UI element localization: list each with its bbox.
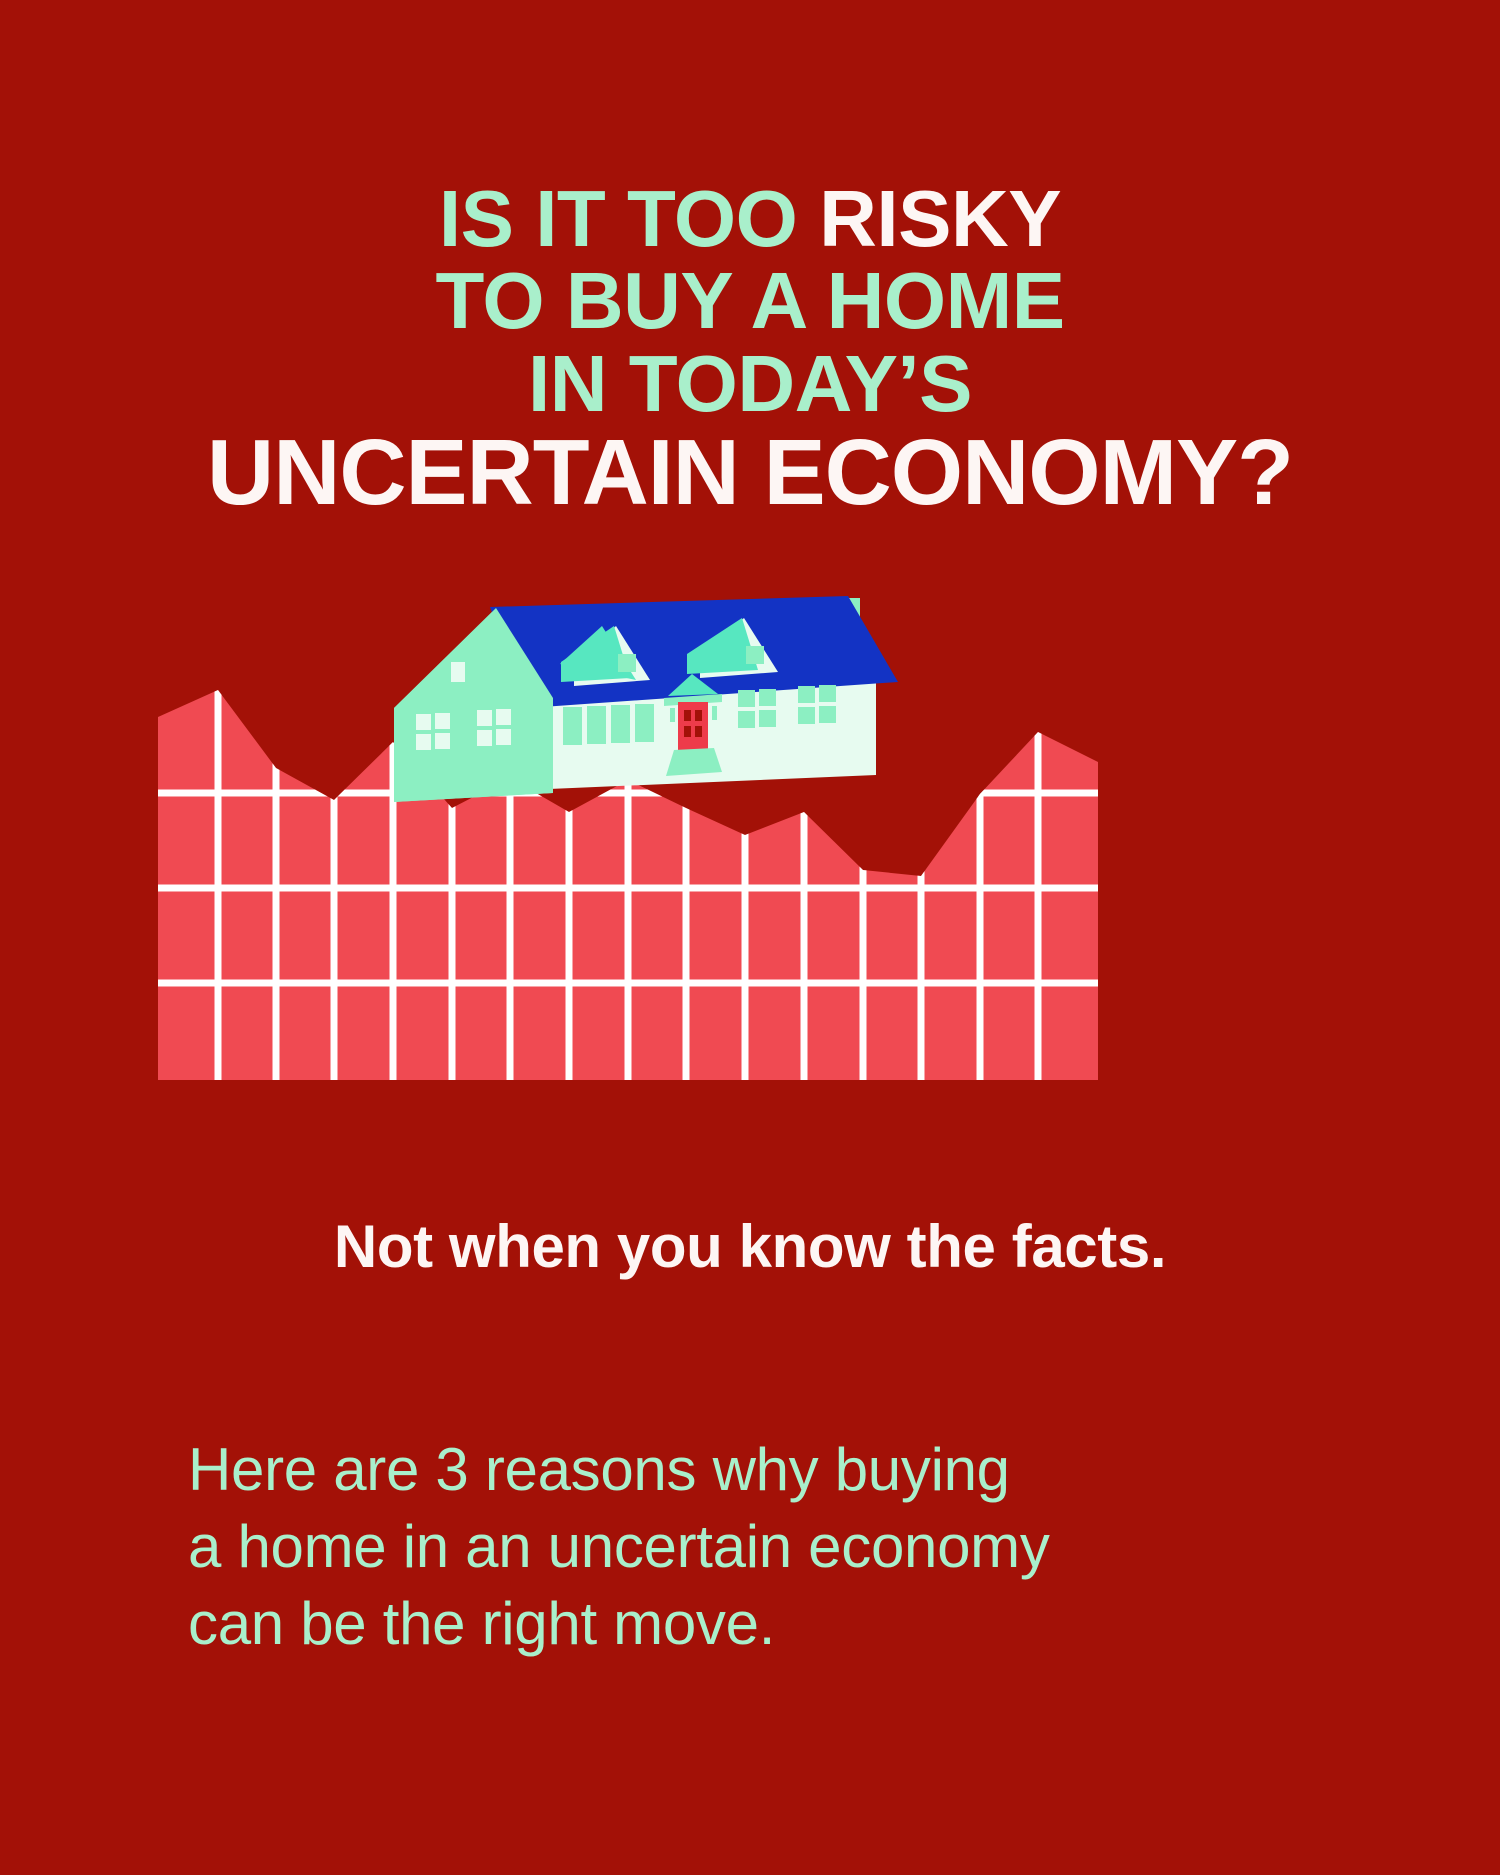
headline-line-2: TO BUY A HOME <box>0 260 1500 342</box>
front-door <box>678 702 708 750</box>
subhead: Not when you know the facts. <box>0 1212 1500 1281</box>
body-copy-line-1: Here are 3 reasons why buying <box>188 1432 1348 1509</box>
house-svg <box>378 590 908 810</box>
house-illustration <box>378 590 908 810</box>
body-copy-line-2: a home in an uncertain economy <box>188 1509 1348 1586</box>
poster-canvas: IS IT TOO RISKY TO BUY A HOME IN TODAY’S… <box>0 0 1500 1875</box>
door-sidelight-right <box>712 706 717 720</box>
headline-line-1-mint: IS IT TOO <box>439 174 819 263</box>
dormer-2-window <box>746 646 764 664</box>
hero-illustration <box>0 580 1500 1160</box>
page-title: IS IT TOO RISKY TO BUY A HOME IN TODAY’S… <box>0 178 1500 521</box>
body-copy: Here are 3 reasons why buying a home in … <box>188 1432 1348 1662</box>
attic-vent <box>451 662 465 682</box>
headline-line-1-white: RISKY <box>819 174 1061 263</box>
headline-line-3: IN TODAY’S <box>0 343 1500 425</box>
body-copy-line-3: can be the right move. <box>188 1586 1348 1663</box>
dormer-1-window <box>618 654 636 672</box>
headline-line-1: IS IT TOO RISKY <box>0 178 1500 260</box>
headline-line-4: UNCERTAIN ECONOMY? <box>0 425 1500 521</box>
door-sidelight-left <box>670 708 675 722</box>
door-step <box>666 748 722 776</box>
